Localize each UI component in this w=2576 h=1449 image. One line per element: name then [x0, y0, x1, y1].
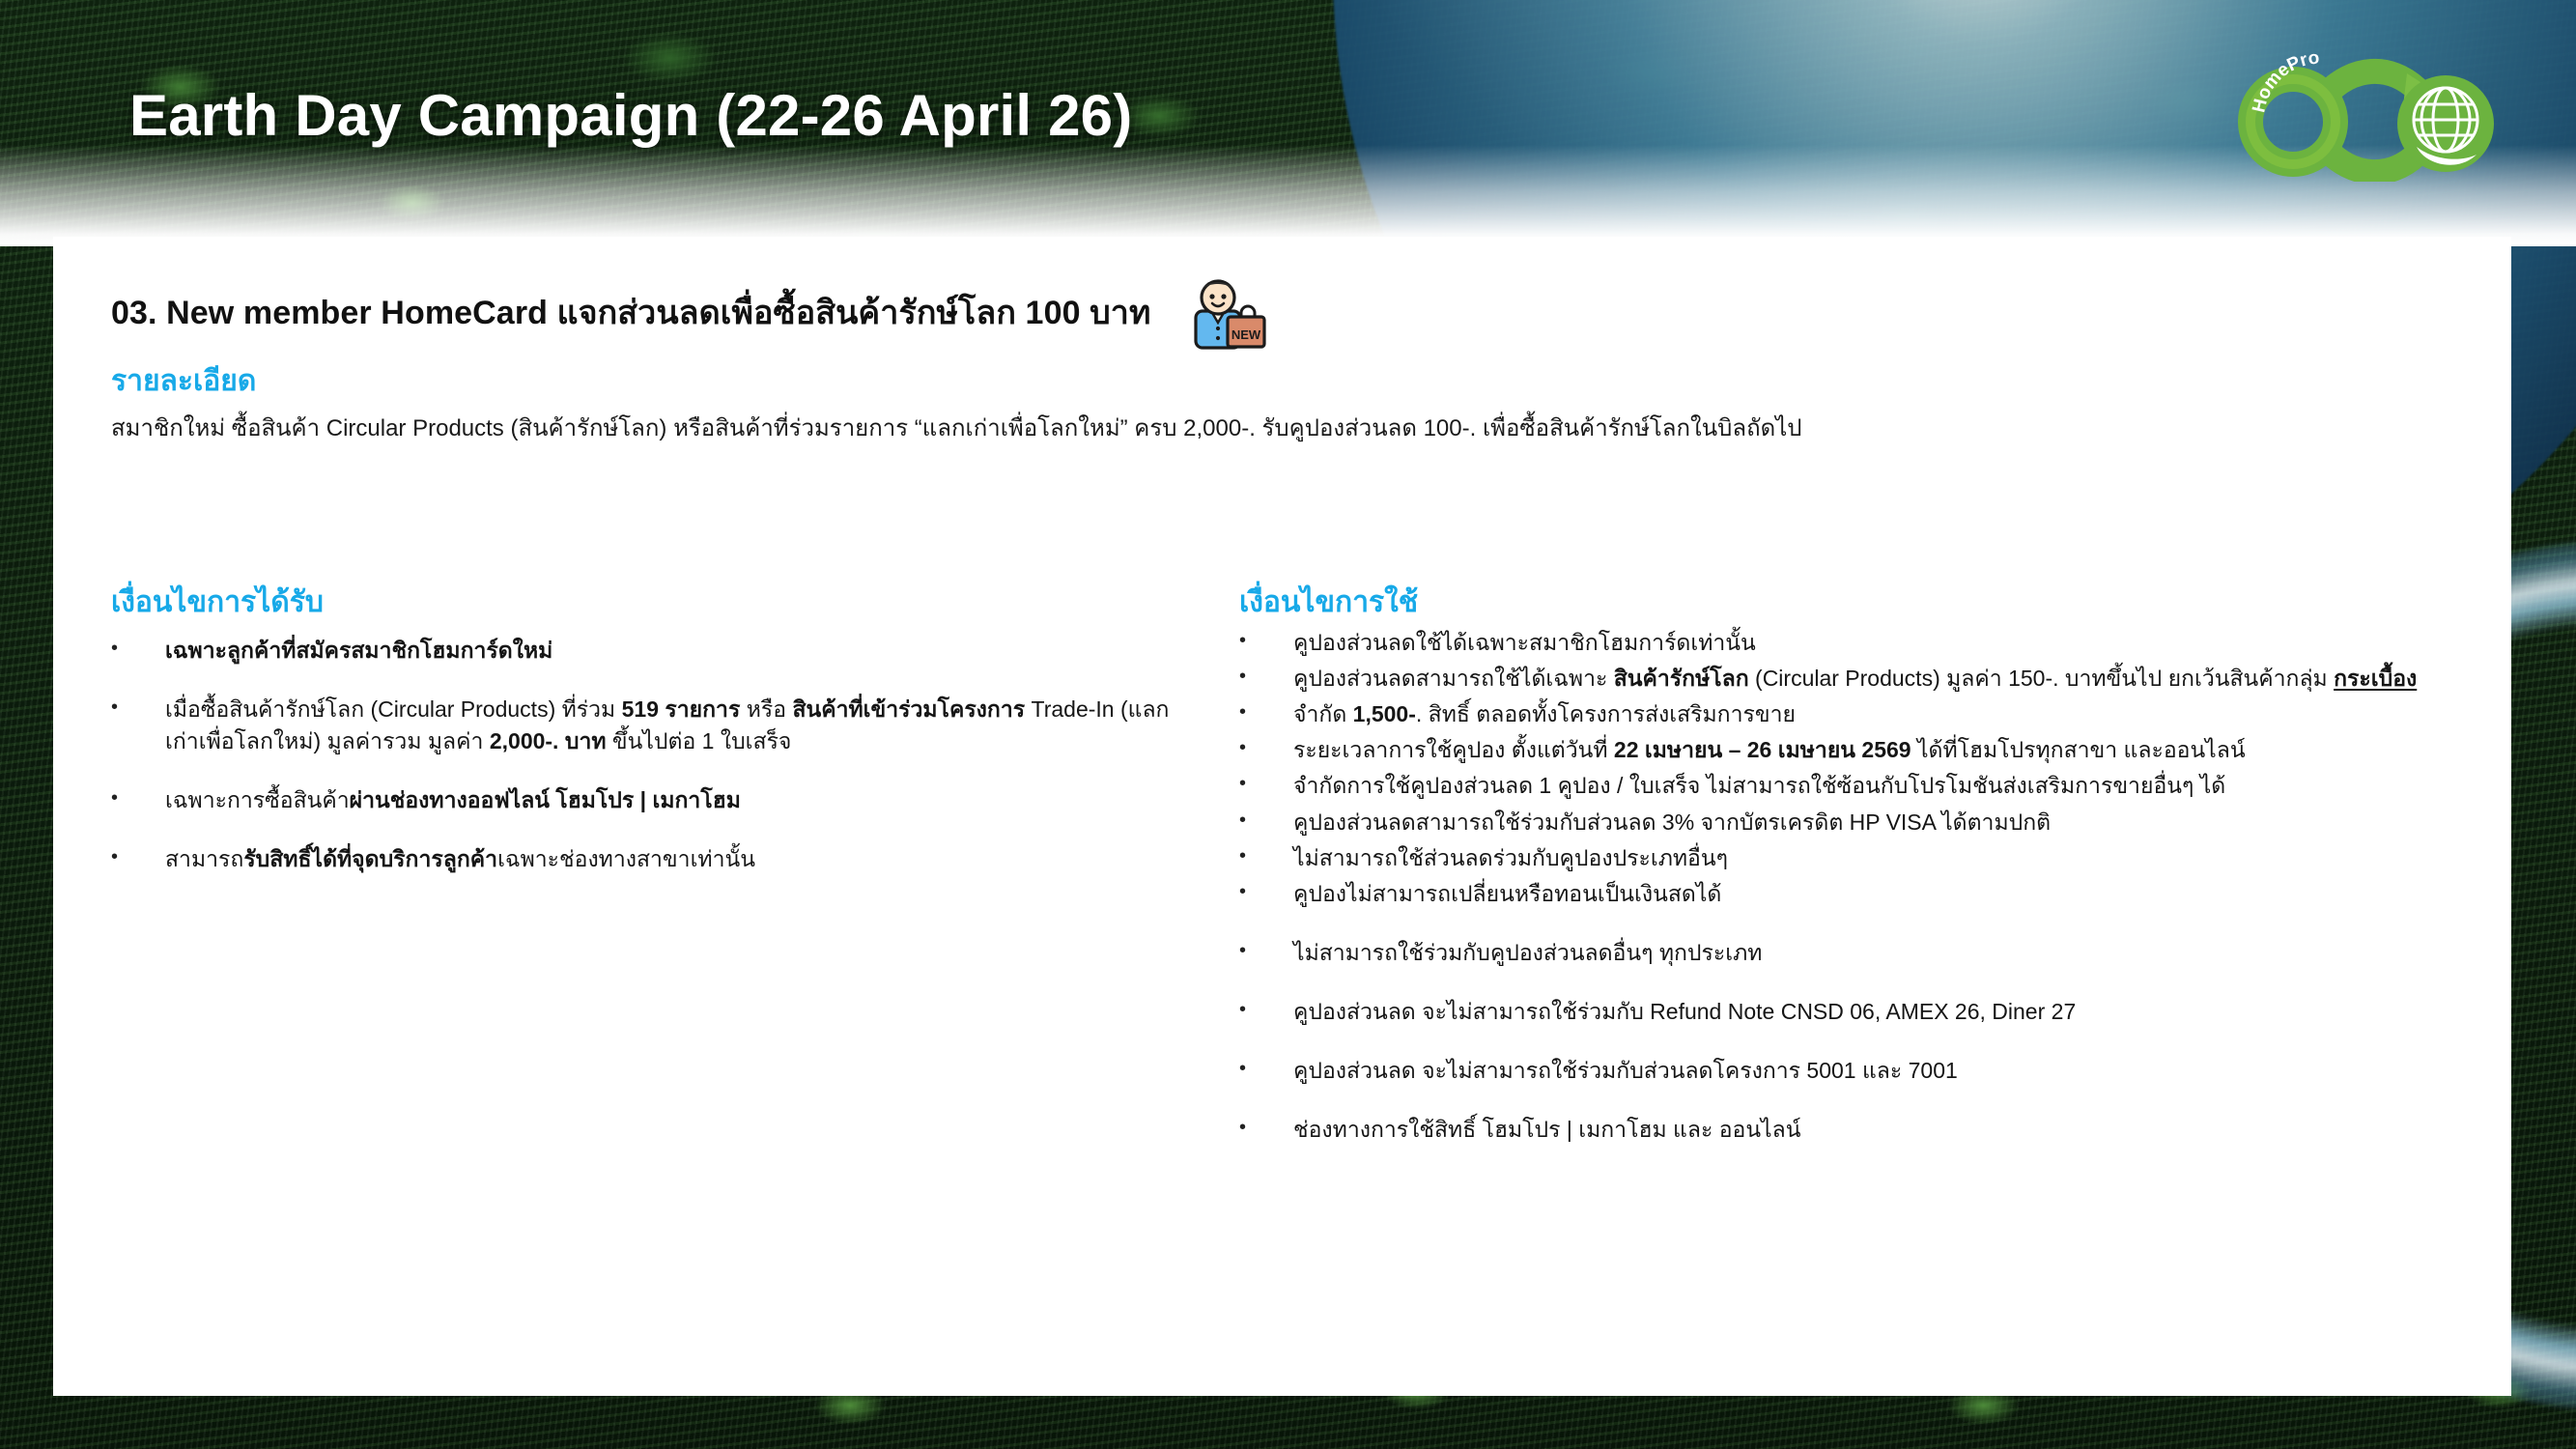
eligibility-conditions-heading: เงื่อนไขการได้รับ: [111, 580, 324, 625]
eligibility-conditions-list: •เฉพาะลูกค้าที่สมัครสมาชิกโฮมการ์ดใหม่•เ…: [111, 635, 1193, 903]
list-item-text: ไม่สามารถใช้ส่วนลดร่วมกับคูปองประเภทอื่น…: [1293, 842, 2485, 874]
list-item-text: คูปองส่วนลด จะไม่สามารถใช้ร่วมกับส่วนลดโ…: [1293, 1055, 2485, 1087]
list-item: •คูปองส่วนลด จะไม่สามารถใช้ร่วมกับ Refun…: [1239, 996, 2485, 1028]
bullet-dot-icon: •: [111, 784, 165, 811]
page-title: Earth Day Campaign (22-26 April 26): [129, 82, 1132, 149]
plain-text: เฉพาะการซื้อสินค้า: [165, 787, 350, 812]
list-item: •คูปองส่วนลด จะไม่สามารถใช้ร่วมกับส่วนลด…: [1239, 1055, 2485, 1087]
list-item: •เฉพาะลูกค้าที่สมัครสมาชิกโฮมการ์ดใหม่: [111, 635, 1193, 667]
list-item-text: ช่องทางการใช้สิทธิ์ โฮมโปร | เมกาโฮม และ…: [1293, 1114, 2485, 1146]
emphasis-bold-text: สินค้าที่เข้าร่วมโครงการ: [792, 696, 1025, 722]
content-card: 03. New member HomeCard แจกส่วนลดเพื่อซื…: [53, 237, 2511, 1396]
list-item-text: คูปองส่วนลดใช้ได้เฉพาะสมาชิกโฮมการ์ดเท่า…: [1293, 627, 2485, 659]
plain-text: เมื่อซื้อสินค้ารักษ์โลก (Circular Produc…: [165, 696, 622, 722]
list-item-text: คูปองส่วนลดสามารถใช้ร่วมกับส่วนลด 3% จาก…: [1293, 807, 2485, 838]
list-item: •ไม่สามารถใช้ส่วนลดร่วมกับคูปองประเภทอื่…: [1239, 842, 2485, 874]
bullet-dot-icon: •: [1239, 937, 1293, 964]
section-heading-row: 03. New member HomeCard แจกส่วนลดเพื่อซื…: [111, 270, 1267, 354]
bullet-dot-icon: •: [1239, 734, 1293, 761]
bullet-dot-icon: •: [1239, 1055, 1293, 1082]
bullet-dot-icon: •: [111, 635, 165, 662]
svg-text:NEW: NEW: [1231, 327, 1260, 342]
list-item: •ระยะเวลาการใช้คูปอง ตั้งแต่วันที่ 22 เม…: [1239, 734, 2485, 766]
emphasis-bold-text: สินค้ารักษ์โลก: [1614, 666, 1749, 691]
plain-text: หรือ: [740, 696, 792, 722]
bullet-dot-icon: •: [1239, 842, 1293, 869]
list-item: •คูปองไม่สามารถเปลี่ยนหรือทอนเป็นเงินสดไ…: [1239, 878, 2485, 910]
list-item-text: เมื่อซื้อสินค้ารักษ์โลก (Circular Produc…: [165, 694, 1193, 757]
plain-text: คูปองไม่สามารถเปลี่ยนหรือทอนเป็นเงินสดได…: [1293, 881, 1721, 906]
list-item: •คูปองส่วนลดสามารถใช้ได้เฉพาะ สินค้ารักษ…: [1239, 663, 2485, 695]
list-item: •ไม่สามารถใช้ร่วมกับคูปองส่วนลดอื่นๆ ทุก…: [1239, 937, 2485, 969]
list-item-text: สามารถรับสิทธิ์ได้ที่จุดบริการลูกค้าเฉพา…: [165, 843, 1193, 875]
bullet-dot-icon: •: [111, 694, 165, 721]
plain-text: จำกัด: [1293, 701, 1353, 726]
plain-text: คูปองส่วนลดใช้ได้เฉพาะสมาชิกโฮมการ์ดเท่า…: [1293, 630, 1756, 655]
homepro-circular-logo: HomePro: [2218, 46, 2527, 182]
emphasis-bold-text: ผ่านช่องทางออฟไลน์ โฮมโปร | เมกาโฮม: [350, 787, 741, 812]
plain-text: ไม่สามารถใช้ส่วนลดร่วมกับคูปองประเภทอื่น…: [1293, 845, 1728, 870]
plain-text: คูปองส่วนลด จะไม่สามารถใช้ร่วมกับส่วนลดโ…: [1293, 1058, 1958, 1083]
list-item: •สามารถรับสิทธิ์ได้ที่จุดบริการลูกค้าเฉพ…: [111, 843, 1193, 875]
plain-text: จำกัดการใช้คูปองส่วนลด 1 คูปอง / ใบเสร็จ…: [1293, 773, 2225, 798]
plain-text: คูปองส่วนลด จะไม่สามารถใช้ร่วมกับ Refund…: [1293, 999, 2076, 1024]
list-item: •เฉพาะการซื้อสินค้าผ่านช่องทางออฟไลน์ โฮ…: [111, 784, 1193, 816]
list-item: •ช่องทางการใช้สิทธิ์ โฮมโปร | เมกาโฮม แล…: [1239, 1114, 2485, 1146]
list-item-text: เฉพาะการซื้อสินค้าผ่านช่องทางออฟไลน์ โฮม…: [165, 784, 1193, 816]
header-fade-overlay: [0, 145, 2576, 246]
list-item: •จำกัดการใช้คูปองส่วนลด 1 คูปอง / ใบเสร็…: [1239, 770, 2485, 802]
usage-conditions-list: •คูปองส่วนลดใช้ได้เฉพาะสมาชิกโฮมการ์ดเท่…: [1239, 627, 2485, 1173]
emphasis-bold-text: 22 เมษายน – 26 เมษายน 2569: [1614, 737, 1911, 762]
list-item-text: คูปองส่วนลดสามารถใช้ได้เฉพาะ สินค้ารักษ์…: [1293, 663, 2485, 695]
emphasis-underline-text: กระเบื้อง: [2334, 666, 2417, 691]
list-item-text: จำกัดการใช้คูปองส่วนลด 1 คูปอง / ใบเสร็จ…: [1293, 770, 2485, 802]
plain-text: ระยะเวลาการใช้คูปอง ตั้งแต่วันที่: [1293, 737, 1614, 762]
plain-text: คูปองส่วนลดสามารถใช้ได้เฉพาะ: [1293, 666, 1614, 691]
plain-text: (Circular Products) มูลค่า 150-. บาทขึ้น…: [1749, 666, 2334, 691]
bullet-dot-icon: •: [1239, 878, 1293, 905]
list-item: •คูปองส่วนลดใช้ได้เฉพาะสมาชิกโฮมการ์ดเท่…: [1239, 627, 2485, 659]
emphasis-bold-text: รับสิทธิ์ได้ที่จุดบริการลูกค้า: [243, 846, 497, 871]
bullet-dot-icon: •: [1239, 807, 1293, 834]
plain-text: ไม่สามารถใช้ร่วมกับคูปองส่วนลดอื่นๆ ทุกป…: [1293, 940, 1762, 965]
list-item: •คูปองส่วนลดสามารถใช้ร่วมกับส่วนลด 3% จา…: [1239, 807, 2485, 838]
list-item-text: ระยะเวลาการใช้คูปอง ตั้งแต่วันที่ 22 เมษ…: [1293, 734, 2485, 766]
emphasis-bold-text: เฉพาะลูกค้าที่สมัครสมาชิกโฮมการ์ดใหม่: [165, 638, 552, 663]
plain-text: . สิทธิ์ ตลอดทั้งโครงการส่งเสริมการขาย: [1416, 701, 1796, 726]
list-item-text: จำกัด 1,500-. สิทธิ์ ตลอดทั้งโครงการส่งเ…: [1293, 698, 2485, 730]
bullet-dot-icon: •: [111, 843, 165, 870]
plain-text: เฉพาะช่องทางสาขาเท่านั้น: [497, 846, 755, 871]
emphasis-bold-text: 2,000-. บาท: [490, 728, 607, 753]
detail-description: สมาชิกใหม่ ซื้อสินค้า Circular Products …: [111, 409, 1802, 446]
bullet-dot-icon: •: [1239, 770, 1293, 797]
plain-text: สามารถ: [165, 846, 243, 871]
section-title: 03. New member HomeCard แจกส่วนลดเพื่อซื…: [111, 286, 1151, 338]
list-item-text: เฉพาะลูกค้าที่สมัครสมาชิกโฮมการ์ดใหม่: [165, 635, 1193, 667]
list-item: •จำกัด 1,500-. สิทธิ์ ตลอดทั้งโครงการส่ง…: [1239, 698, 2485, 730]
bullet-dot-icon: •: [1239, 1114, 1293, 1141]
usage-conditions-heading: เงื่อนไขการใช้: [1239, 580, 1418, 625]
emphasis-bold-text: 1,500-: [1353, 701, 1416, 726]
list-item: •เมื่อซื้อสินค้ารักษ์โลก (Circular Produ…: [111, 694, 1193, 757]
list-item-text: คูปองส่วนลด จะไม่สามารถใช้ร่วมกับ Refund…: [1293, 996, 2485, 1028]
list-item-text: ไม่สามารถใช้ร่วมกับคูปองส่วนลดอื่นๆ ทุกป…: [1293, 937, 2485, 969]
plain-text: ขึ้นไปต่อ 1 ใบเสร็จ: [607, 728, 792, 753]
plain-text: คูปองส่วนลดสามารถใช้ร่วมกับส่วนลด 3% จาก…: [1293, 810, 2051, 835]
bullet-dot-icon: •: [1239, 996, 1293, 1023]
bullet-dot-icon: •: [1239, 698, 1293, 725]
new-member-avatar-icon: NEW: [1175, 270, 1267, 354]
plain-text: ได้ที่โฮมโปรทุกสาขา และออนไลน์: [1911, 737, 2246, 762]
list-item-text: คูปองไม่สามารถเปลี่ยนหรือทอนเป็นเงินสดได…: [1293, 878, 2485, 910]
emphasis-bold-text: 519 รายการ: [622, 696, 741, 722]
bullet-dot-icon: •: [1239, 663, 1293, 690]
plain-text: ช่องทางการใช้สิทธิ์ โฮมโปร | เมกาโฮม และ…: [1293, 1117, 1800, 1142]
bullet-dot-icon: •: [1239, 627, 1293, 654]
detail-heading: รายละเอียด: [111, 358, 256, 404]
